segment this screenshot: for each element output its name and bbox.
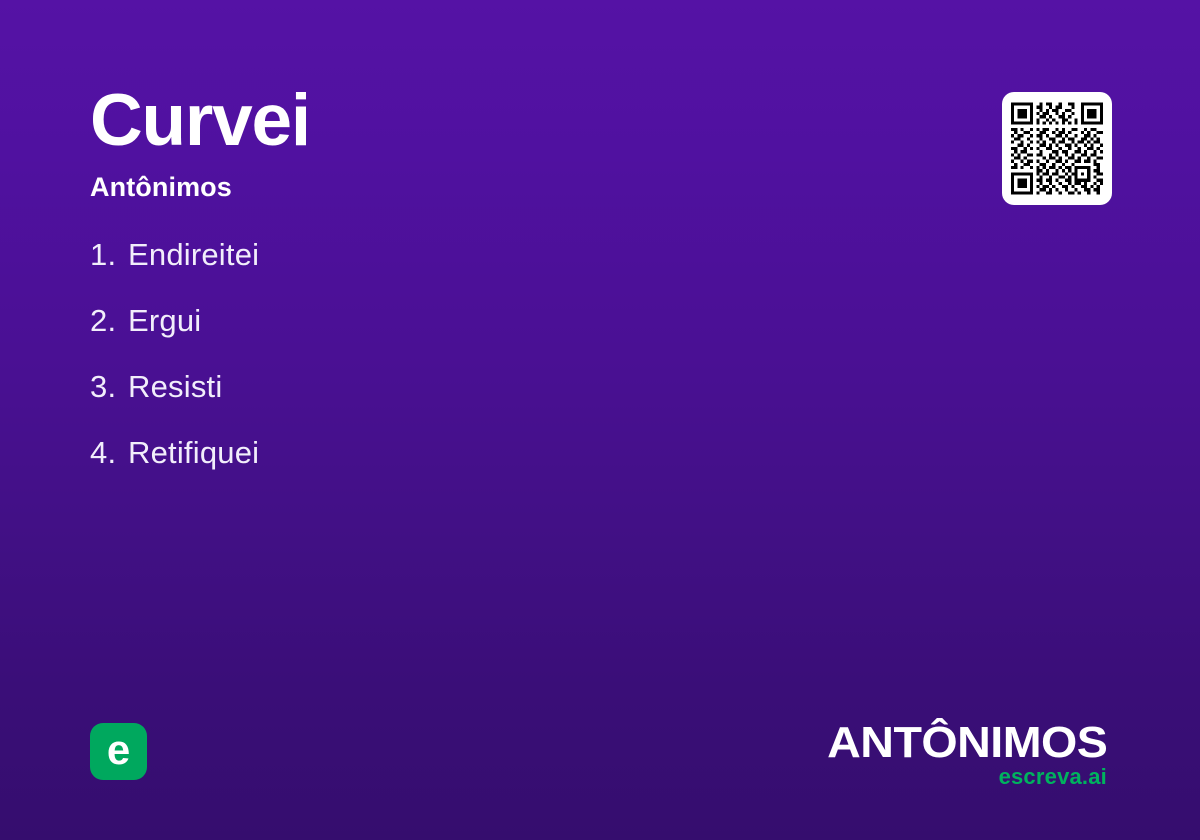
list-item: 1. Endireitei	[90, 237, 259, 303]
escreva-logo-icon[interactable]: e	[90, 723, 147, 780]
title-block: Curvei Antônimos	[90, 84, 310, 201]
list-item-word: Ergui	[128, 303, 201, 339]
list-item: 2. Ergui	[90, 303, 259, 369]
list-item: 4. Retifiquei	[90, 435, 259, 501]
page-title: Curvei	[90, 84, 310, 157]
list-item-word: Endireitei	[128, 237, 259, 273]
list-item-index: 2.	[90, 303, 128, 339]
list-item-word: Retifiquei	[128, 435, 259, 471]
word-list: 1. Endireitei 2. Ergui 3. Resisti 4. Ret…	[90, 237, 259, 501]
list-item-word: Resisti	[128, 369, 222, 405]
qr-code-icon[interactable]	[1002, 92, 1112, 205]
list-item-index: 1.	[90, 237, 128, 273]
word-card: Curvei Antônimos 1. Endireitei 2. Ergui …	[0, 0, 1200, 840]
list-item-index: 4.	[90, 435, 128, 471]
list-item: 3. Resisti	[90, 369, 259, 435]
list-item-index: 3.	[90, 369, 128, 405]
brand-mark-letter: e	[107, 729, 130, 771]
page-subtitle: Antônimos	[90, 174, 310, 201]
wordmark-subtitle: escreva.ai	[843, 766, 1107, 788]
wordmark: ANTÔNIMOS escreva.ai	[843, 721, 1107, 788]
wordmark-title: ANTÔNIMOS	[827, 721, 1107, 765]
